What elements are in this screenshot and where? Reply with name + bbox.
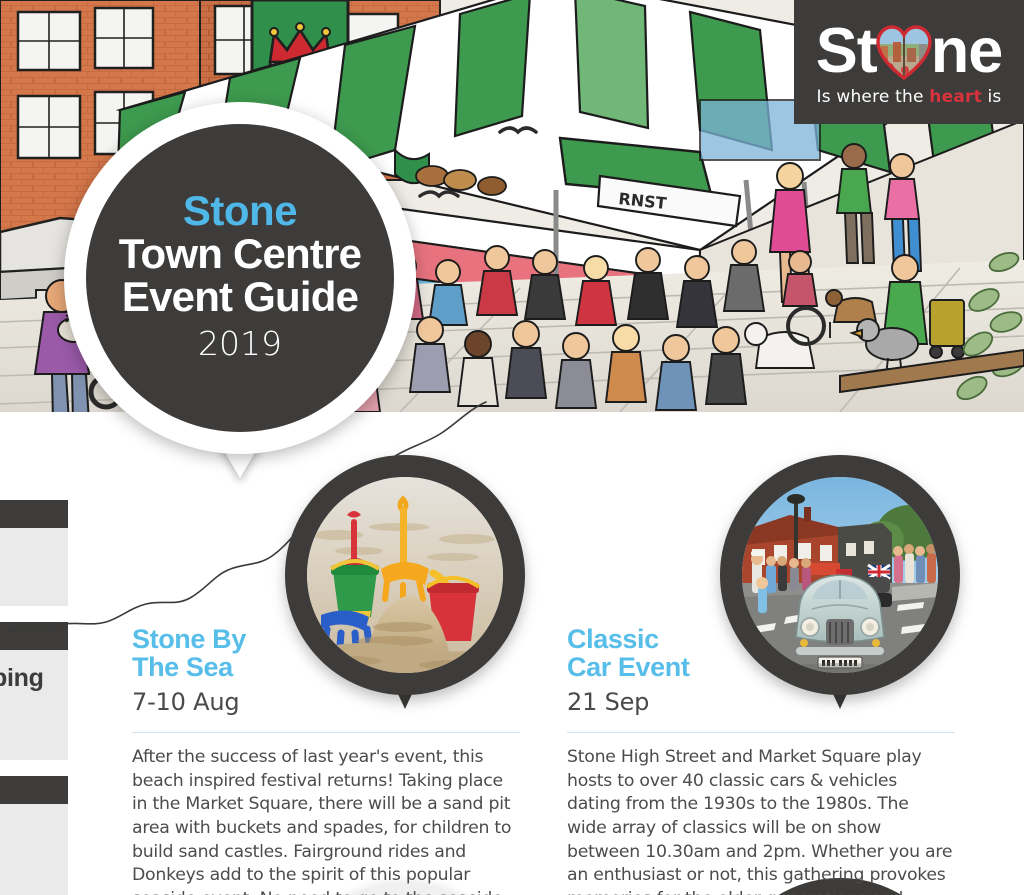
page-title-line2: Event Guide [122, 276, 358, 319]
stone-logo: St [794, 0, 1024, 124]
event-description: Stone High Street and Market Square play… [567, 746, 953, 895]
event-title-line1: Classic [567, 624, 659, 654]
page-title-line1: Town Centre [119, 233, 361, 276]
logo-tagline: Is where the heart is [816, 87, 1001, 107]
page-title-year: 2019 [198, 323, 282, 366]
tagline-post: is [982, 87, 1002, 107]
panel-card-bar [0, 776, 68, 804]
title-bubble-disc: Stone Town Centre Event Guide 2019 [86, 124, 394, 432]
event-date: 21 Sep [567, 688, 649, 716]
panel-card-body [0, 804, 68, 895]
event-divider [567, 732, 955, 733]
logo-text-after: ne [931, 20, 1003, 83]
panel-card-body [0, 528, 68, 606]
panel-card-bar [0, 500, 68, 528]
tagline-pre: Is where the [816, 87, 929, 107]
title-bubble: Stone Town Centre Event Guide 2019 [64, 102, 416, 454]
left-cutoff-panel: ping [0, 500, 68, 895]
panel-card[interactable]: ping [0, 622, 68, 760]
event-guide-page: RNST [0, 0, 1024, 895]
event-title: Classic Car Event [567, 625, 777, 681]
panel-card-bar [0, 622, 68, 650]
event-title-line2: The Sea [132, 652, 233, 682]
event-title-line2: Car Event [567, 652, 689, 682]
logo-text-before: St [816, 20, 877, 83]
panel-card-body: ping [0, 650, 68, 760]
heart-photo-icon [875, 24, 933, 82]
panel-card[interactable] [0, 776, 68, 895]
event-title: Stone By The Sea [132, 625, 342, 681]
event-divider [132, 732, 520, 733]
panel-card-label: ping [0, 664, 44, 693]
event-description: After the success of last year's event, … [132, 746, 518, 895]
event-date: 7-10 Aug [132, 688, 239, 716]
logo-wordmark: St [816, 17, 1003, 85]
panel-card[interactable] [0, 500, 68, 606]
tagline-highlight: heart [929, 87, 982, 107]
page-title-accent: Stone [183, 190, 297, 233]
event-title-line1: Stone By [132, 624, 246, 654]
